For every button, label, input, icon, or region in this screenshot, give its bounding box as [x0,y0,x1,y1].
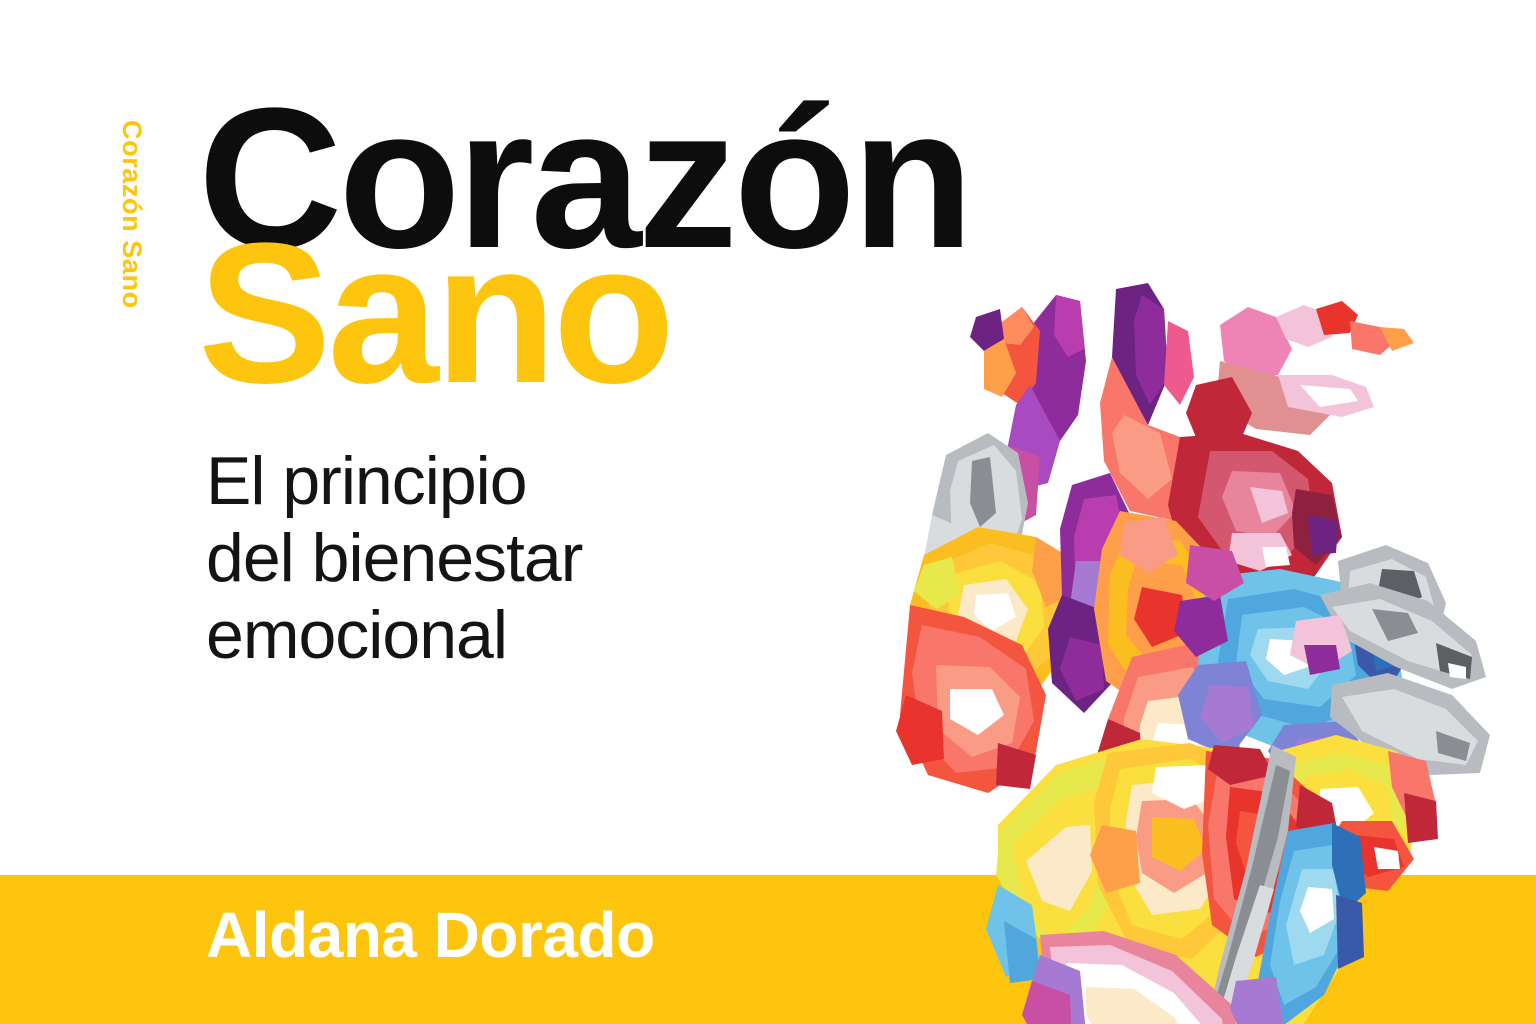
title-line-sano: Sano [198,214,671,414]
book-cover: Corazón Sano Corazón Sano El principio d… [0,0,1536,1024]
subtitle-line-2: del bienestar [206,520,582,597]
author-name: Aldana Dorado [206,900,655,970]
spine-title: Corazón Sano [117,120,147,380]
subtitle-line-1: El principio [206,443,582,520]
title-block: Corazón Sano [0,0,1536,430]
subtitle: El principio del bienestar emocional [206,443,582,674]
subtitle-line-3: emocional [206,597,582,674]
